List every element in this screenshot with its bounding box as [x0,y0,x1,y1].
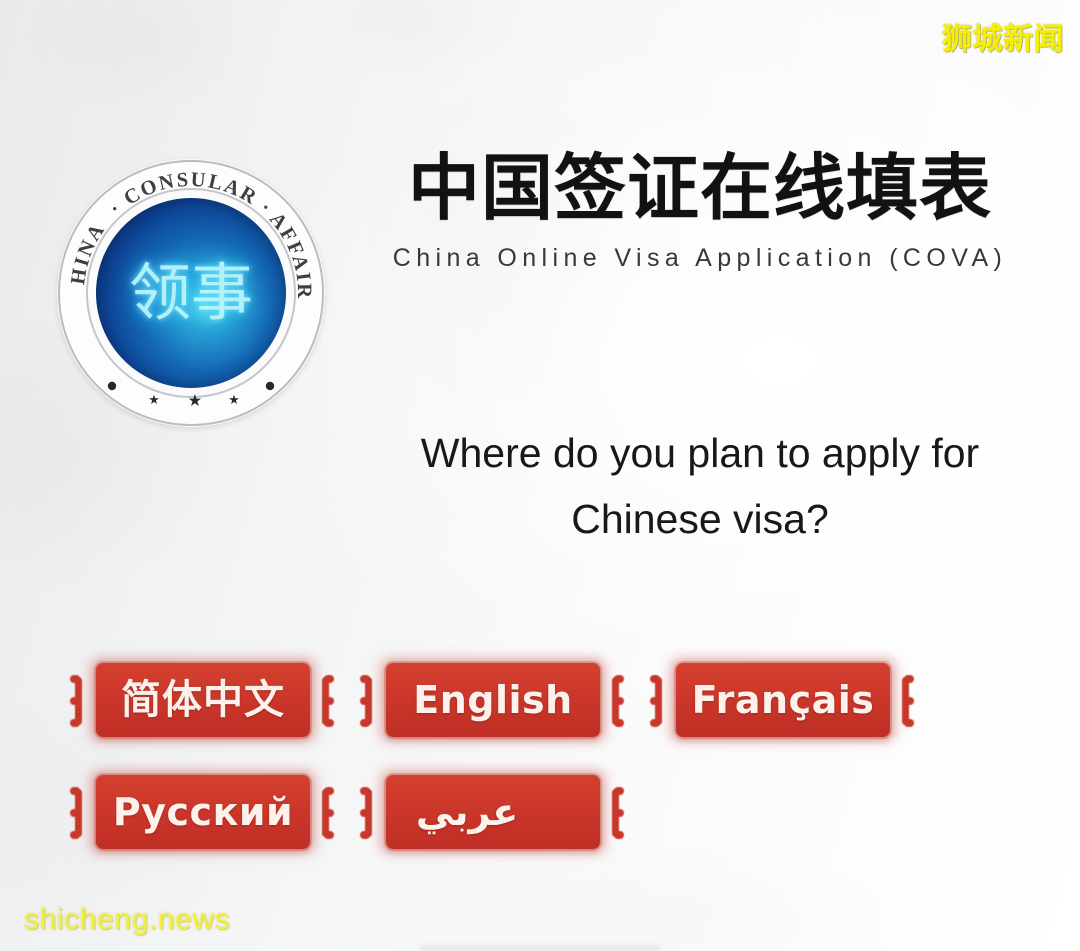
seal-center-glyphs: 领事 [96,198,286,388]
language-button-label: Français [692,681,875,719]
page-header: · CONSULAR · CHINA AFFAIRS 领事 [0,140,1080,450]
question-prompt: Where do you plan to apply for Chinese v… [340,420,1060,553]
language-slot: Français [642,655,932,747]
bracket-right-icon [318,785,334,841]
bracket-right-icon [608,673,624,729]
bottom-cutoff-sliver [420,945,660,951]
language-button-zh-hans[interactable]: 简体中文 [96,663,310,737]
bracket-left-icon [650,673,666,729]
language-slot: عربي [352,767,642,859]
bracket-right-icon [898,673,914,729]
language-button-label: Русский [113,793,293,831]
bracket-left-icon [70,785,86,841]
bracket-left-icon [70,673,86,729]
cova-language-selection-screen: · CONSULAR · CHINA AFFAIRS 领事 [0,0,1080,951]
language-options-grid: 简体中文 English [62,655,1022,859]
language-button-en[interactable]: English [386,663,600,737]
language-button-fr[interactable]: Français [676,663,890,737]
language-slot: English [352,655,642,747]
question-line-2: Chinese visa? [340,486,1060,552]
bracket-right-icon [318,673,334,729]
question-line-1: Where do you plan to apply for [340,420,1060,486]
language-slot: 简体中文 [62,655,352,747]
language-button-ru[interactable]: Русский [96,775,310,849]
language-slot: Русский [62,767,352,859]
page-title-chinese: 中国签证在线填表 [350,150,1050,226]
title-block: 中国签证在线填表 China Online Visa Application (… [350,140,1050,273]
watermark-top-right: 狮城新闻 [942,14,1064,58]
language-row: 简体中文 English [62,655,1022,747]
language-button-label: English [413,681,572,719]
bracket-right-icon [608,785,624,841]
china-consular-affairs-seal-icon: · CONSULAR · CHINA AFFAIRS 领事 [46,148,336,438]
language-button-label: عربي [416,793,518,831]
watermark-bottom-left: shicheng.news [24,903,230,937]
bracket-left-icon [360,785,376,841]
bracket-left-icon [360,673,376,729]
language-button-ar[interactable]: عربي [386,775,600,849]
language-row: Русский عربي [62,767,1022,859]
page-title-english: China Online Visa Application (COVA) [350,244,1050,273]
language-button-label: 简体中文 [121,680,285,720]
